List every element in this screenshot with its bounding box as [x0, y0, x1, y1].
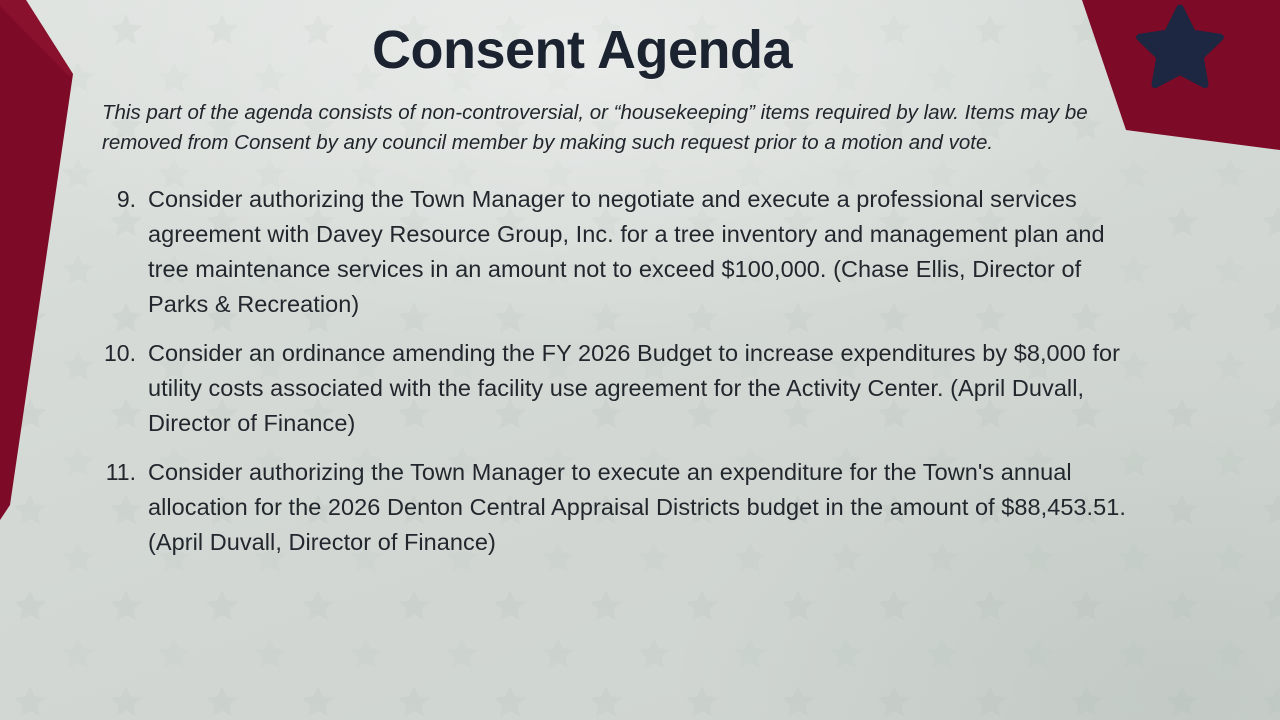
list-item-number: 11.	[84, 455, 148, 490]
list-item-number: 10.	[84, 336, 148, 371]
slide-subtitle: This part of the agenda consists of non-…	[102, 98, 1134, 157]
agenda-list: 9. Consider authorizing the Town Manager…	[84, 182, 1144, 574]
list-item-number: 9.	[84, 182, 148, 217]
list-item-text: Consider an ordinance amending the FY 20…	[148, 336, 1144, 441]
slide-canvas: Consent Agenda This part of the agenda c…	[0, 0, 1280, 720]
list-item: 10. Consider an ordinance amending the F…	[84, 336, 1144, 441]
list-item-text: Consider authorizing the Town Manager to…	[148, 182, 1144, 322]
list-item: 9. Consider authorizing the Town Manager…	[84, 182, 1144, 322]
page-title: Consent Agenda	[0, 22, 1164, 79]
list-item-text: Consider authorizing the Town Manager to…	[148, 455, 1144, 560]
list-item: 11. Consider authorizing the Town Manage…	[84, 455, 1144, 560]
